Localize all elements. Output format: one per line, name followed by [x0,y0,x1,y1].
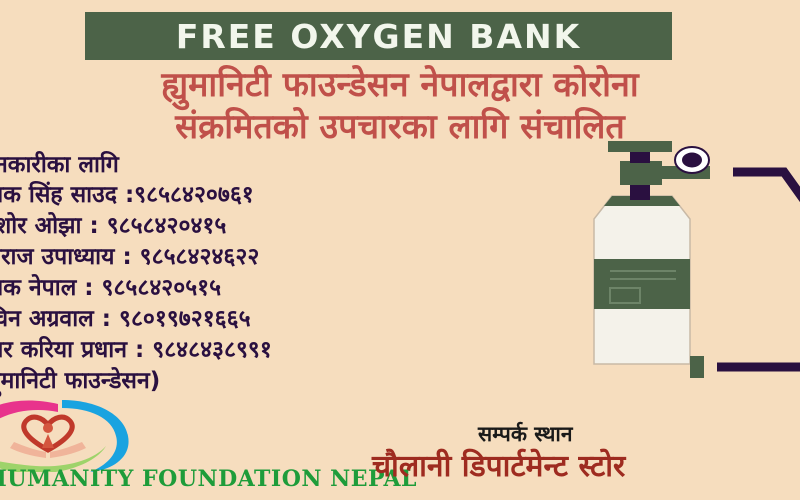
logo-swoosh-blue [62,400,129,472]
regulator-outlet [662,166,674,179]
foundation-logo: HUMANITY FOUNDATION NEPAL [0,398,282,500]
logo-figure-body [42,434,54,448]
contact-line: अमर करिया प्रधान : ९८४८४३८९९१ [0,335,492,366]
oxygen-cylinder-illustration [562,138,800,398]
title-banner: FREE OXYGEN BANK [85,12,672,60]
cylinder-label-band [594,259,690,309]
logo-mark [0,398,144,472]
poster-root: FREE OXYGEN BANK ह्युमानिटी फाउन्डेसन ने… [0,0,800,500]
contact-block: जानकारीका लागि दिपक सिंह साउद :९८५८४२०७६… [0,150,492,397]
pressure-gauge-face [682,153,702,168]
hands-heart-logo-icon [0,398,144,472]
address-value: चौलानी डिपार्टमेन्ट स्टोर [372,452,625,482]
contact-heading: जानकारीका लागि [0,150,492,180]
oxygen-hose-upper [733,172,800,214]
valve-handle [608,141,672,152]
contact-line: दिपक सिंह साउद :९८५८४२०७६१ [0,180,492,211]
address-label: सम्पर्क स्थान [478,424,573,445]
contact-footer: (ह्युमानिटी फाउन्डेसन) [0,366,492,397]
oxygen-cylinder-icon [562,138,800,398]
contact-line: दिपक नेपाल : ९८५८४२०५१५ [0,273,492,304]
cylinder-side-port [690,356,704,378]
cylinder-regulator [620,161,662,185]
poster-title: FREE OXYGEN BANK [176,20,581,53]
logo-figure-head [43,423,53,433]
contact-line: सचिन अग्रवाल : ९८०१९७२१६६५ [0,304,492,335]
contact-line: रामराज उपाध्याय : ९८५८४२४६२२ [0,242,492,273]
logo-wordmark: HUMANITY FOUNDATION NEPAL [0,468,286,490]
contact-line: किशोर ओझा : ९८५८४२०४१५ [0,211,492,242]
headline-line-1: ह्युमानिटी फाउन्डेसन नेपालद्वारा कोरोना [0,68,800,102]
